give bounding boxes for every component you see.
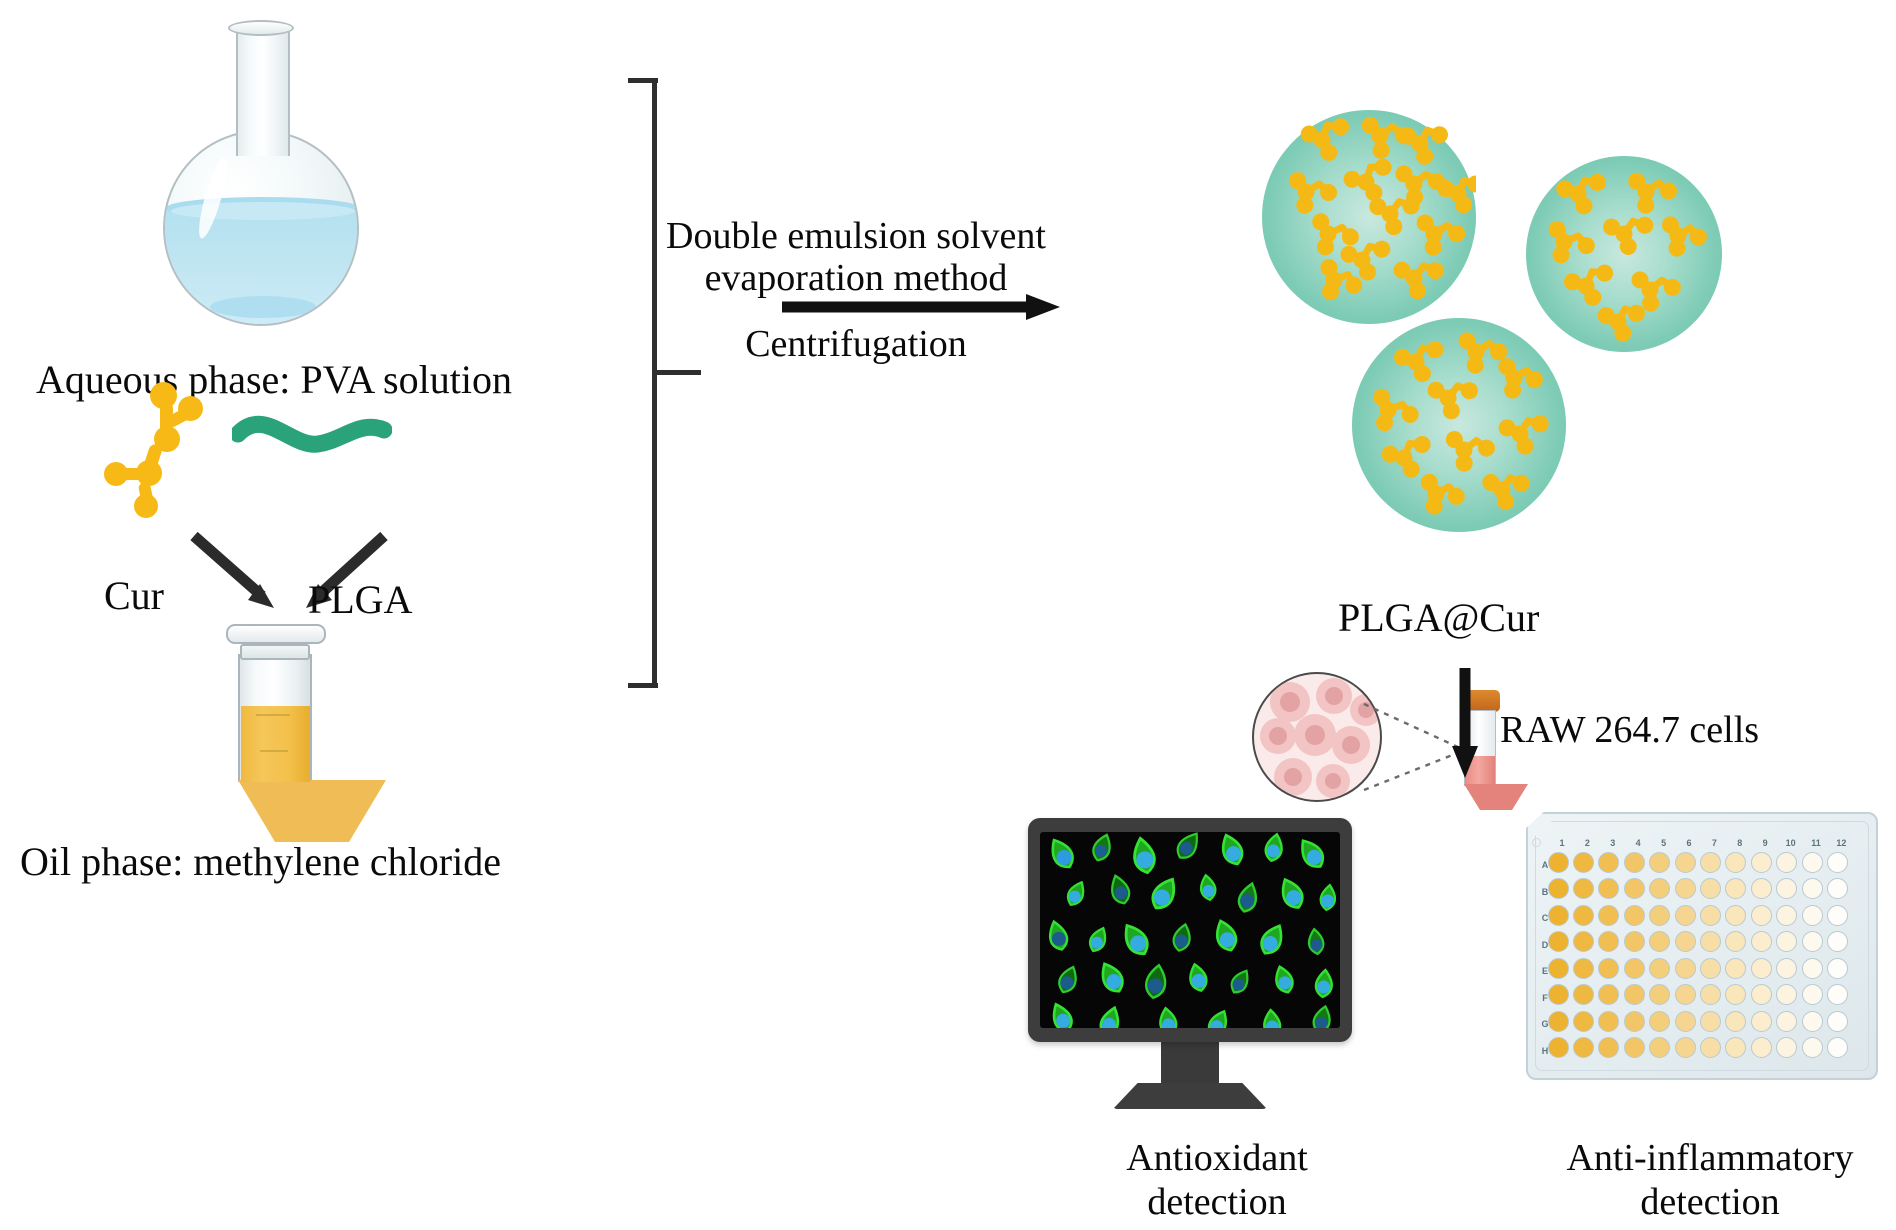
plate-well[interactable] (1776, 1011, 1797, 1032)
plate-well[interactable] (1624, 878, 1645, 899)
plate-well[interactable] (1751, 1011, 1772, 1032)
plate-well[interactable] (1573, 1011, 1594, 1032)
cells-treatment-arrow (1448, 666, 1482, 786)
plate-well[interactable] (1548, 931, 1569, 952)
plate-well[interactable] (1776, 905, 1797, 926)
cur-label: Cur (104, 572, 164, 619)
plate-well[interactable] (1725, 958, 1746, 979)
plate-well[interactable] (1649, 1037, 1670, 1058)
plate-well[interactable] (1802, 958, 1823, 979)
plate-well[interactable] (1675, 878, 1696, 899)
flask-neck (236, 26, 290, 156)
vial-tip (1464, 784, 1528, 810)
microplate-96-well-icon: 123456789101112 ABCDEFGH (1526, 812, 1878, 1080)
plate-notch (1532, 838, 1541, 847)
plate-well[interactable] (1751, 958, 1772, 979)
plate-well[interactable] (1573, 878, 1594, 899)
plate-column-label: 5 (1654, 838, 1674, 848)
plate-well[interactable] (1827, 905, 1848, 926)
plate-well[interactable] (1700, 984, 1721, 1005)
method-line1: Double emulsion solvent (666, 214, 1046, 259)
fluorescence-image (1040, 832, 1340, 1028)
plate-well[interactable] (1827, 878, 1848, 899)
plate-well[interactable] (1776, 958, 1797, 979)
plate-well[interactable] (1802, 1011, 1823, 1032)
plate-well[interactable] (1649, 1011, 1670, 1032)
plate-well[interactable] (1624, 905, 1645, 926)
plate-well[interactable] (1725, 852, 1746, 873)
plate-well[interactable] (1802, 852, 1823, 873)
plate-well[interactable] (1548, 905, 1569, 926)
plate-well[interactable] (1649, 905, 1670, 926)
tube-hinge (240, 644, 310, 660)
tube-liquid (241, 706, 310, 782)
plate-well[interactable] (1725, 1011, 1746, 1032)
plate-column-label: 7 (1704, 838, 1724, 848)
brace-bottom-serif (628, 683, 658, 688)
brace-top-serif (628, 78, 658, 83)
eppendorf-tube-icon (216, 622, 336, 844)
plate-well[interactable] (1573, 931, 1594, 952)
plate-well[interactable] (1751, 878, 1772, 899)
antioxidant-label-line1: Antioxidant (1092, 1136, 1342, 1181)
plate-well[interactable] (1649, 878, 1670, 899)
plate-well[interactable] (1675, 1011, 1696, 1032)
plate-well[interactable] (1649, 958, 1670, 979)
tube-cap (226, 624, 326, 644)
plate-well[interactable] (1598, 852, 1619, 873)
plga-label: PLGA (308, 576, 412, 623)
plate-well[interactable] (1700, 905, 1721, 926)
plate-well[interactable] (1649, 984, 1670, 1005)
raw-cells-label: RAW 264.7 cells (1500, 708, 1759, 753)
plate-well[interactable] (1598, 905, 1619, 926)
plate-well[interactable] (1573, 852, 1594, 873)
plate-well[interactable] (1802, 931, 1823, 952)
plate-column-label: 2 (1577, 838, 1597, 848)
plate-column-label: 8 (1730, 838, 1750, 848)
centrifugation-label: Centrifugation (666, 322, 1046, 367)
oil-phase-label: Oil phase: methylene chloride (20, 838, 501, 885)
plate-well[interactable] (1827, 931, 1848, 952)
flask-floor-highlight (210, 296, 316, 318)
plate-well[interactable] (1548, 984, 1569, 1005)
plate-well[interactable] (1751, 905, 1772, 926)
tube-cone (238, 780, 386, 842)
nanoparticle-group (1240, 106, 1880, 586)
plate-well[interactable] (1776, 878, 1797, 899)
plate-well[interactable] (1548, 878, 1569, 899)
antiinflammatory-label-line2: detection (1560, 1180, 1860, 1225)
monitor-bezel (1028, 818, 1352, 1042)
plate-well[interactable] (1548, 958, 1569, 979)
plate-column-label: 10 (1781, 838, 1801, 848)
monitor-neck (1161, 1042, 1219, 1087)
plate-well[interactable] (1827, 1011, 1848, 1032)
plate-well[interactable] (1802, 905, 1823, 926)
monitor-screen (1040, 832, 1340, 1028)
plate-column-label: 4 (1628, 838, 1648, 848)
antioxidant-label-line2: detection (1092, 1180, 1342, 1225)
plate-well[interactable] (1598, 1011, 1619, 1032)
cur-to-tube-arrow (188, 530, 298, 620)
plate-well[interactable] (1700, 1037, 1721, 1058)
plate-well[interactable] (1827, 1037, 1848, 1058)
plate-well[interactable] (1751, 1037, 1772, 1058)
plga-polymer-icon (232, 408, 392, 478)
plate-well[interactable] (1827, 984, 1848, 1005)
plate-column-label: 6 (1679, 838, 1699, 848)
plate-well[interactable] (1827, 852, 1848, 873)
plate-well[interactable] (1548, 852, 1569, 873)
monitor-base (1113, 1083, 1267, 1109)
flask-lip (228, 20, 294, 36)
round-bottom-flask-icon (128, 18, 388, 318)
brace-pointer (655, 370, 701, 375)
plate-column-label: 11 (1806, 838, 1826, 848)
plate-well[interactable] (1624, 984, 1645, 1005)
plate-well[interactable] (1573, 984, 1594, 1005)
curcumin-molecule-icon (100, 382, 230, 502)
plate-well[interactable] (1700, 958, 1721, 979)
plate-well[interactable] (1700, 931, 1721, 952)
plate-well[interactable] (1802, 878, 1823, 899)
plate-well[interactable] (1725, 905, 1746, 926)
plate-well[interactable] (1802, 1037, 1823, 1058)
plate-well[interactable] (1573, 905, 1594, 926)
plate-well[interactable] (1675, 931, 1696, 952)
plate-well[interactable] (1675, 958, 1696, 979)
plate-well[interactable] (1573, 1037, 1594, 1058)
product-label: PLGA@Cur (1338, 594, 1539, 641)
plate-well[interactable] (1675, 1037, 1696, 1058)
plate-column-label: 3 (1603, 838, 1623, 848)
plate-column-label: 1 (1552, 838, 1572, 848)
plate-column-label: 9 (1755, 838, 1775, 848)
flask-bulb (163, 130, 359, 326)
plate-column-label: 12 (1831, 838, 1851, 848)
antiinflammatory-label-line1: Anti-inflammatory (1560, 1136, 1860, 1181)
plate-well[interactable] (1675, 905, 1696, 926)
plate-well[interactable] (1827, 958, 1848, 979)
plate-well[interactable] (1624, 1011, 1645, 1032)
plate-well[interactable] (1624, 852, 1645, 873)
plate-well[interactable] (1751, 931, 1772, 952)
plate-well[interactable] (1751, 984, 1772, 1005)
plate-well[interactable] (1624, 931, 1645, 952)
plate-well[interactable] (1675, 984, 1696, 1005)
plate-well[interactable] (1751, 852, 1772, 873)
plate-well[interactable] (1776, 1037, 1797, 1058)
process-arrow (778, 290, 1068, 324)
plate-well[interactable] (1700, 852, 1721, 873)
plate-well[interactable] (1675, 852, 1696, 873)
plate-well[interactable] (1598, 958, 1619, 979)
brace-vertical (652, 78, 657, 688)
plate-well[interactable] (1573, 958, 1594, 979)
plate-well[interactable] (1649, 931, 1670, 952)
plate-well[interactable] (1624, 958, 1645, 979)
plate-well[interactable] (1548, 1037, 1569, 1058)
plate-well[interactable] (1700, 878, 1721, 899)
plate-well[interactable] (1776, 984, 1797, 1005)
plate-well[interactable] (1548, 1011, 1569, 1032)
monitor-icon (1028, 818, 1400, 1128)
plate-well[interactable] (1700, 1011, 1721, 1032)
plate-well[interactable] (1776, 852, 1797, 873)
plate-well[interactable] (1776, 931, 1797, 952)
plate-well[interactable] (1624, 1037, 1645, 1058)
plate-well[interactable] (1649, 852, 1670, 873)
plate-well[interactable] (1802, 984, 1823, 1005)
